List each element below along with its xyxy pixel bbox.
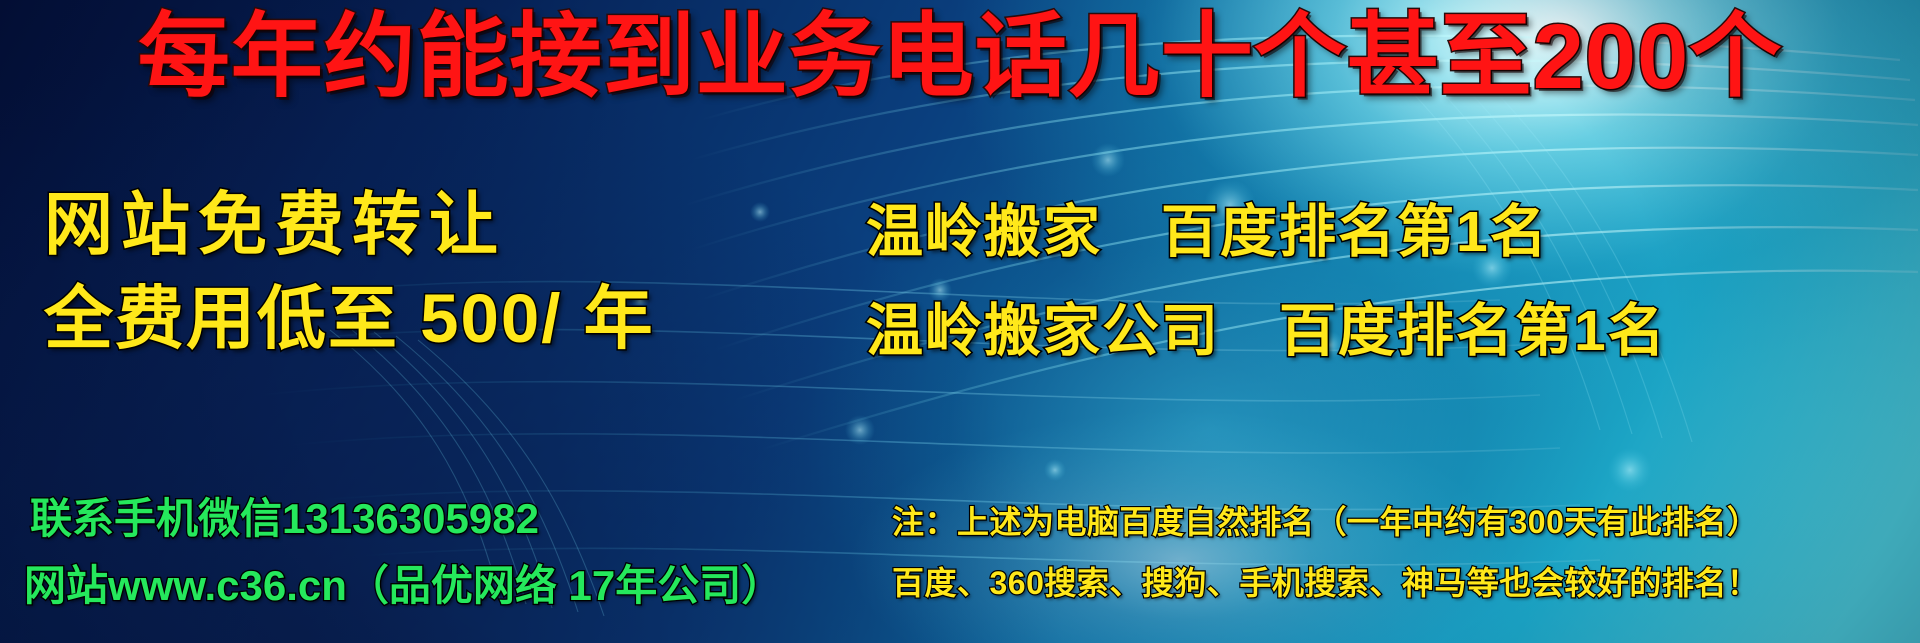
note-line-2: 百度、360搜索、搜狗、手机搜索、神马等也会较好的排名！ [892, 558, 1759, 604]
offer-line-1: 网站免费转让 [44, 168, 506, 268]
ranking-line-1: 温岭搬家 百度排名第1名 [866, 186, 1549, 268]
promo-banner: 每年约能接到业务电话几十个甚至200个 网站免费转让 全费用低至 500/ 年 … [0, 0, 1920, 643]
offer-line-2: 全费用低至 500/ 年 [44, 262, 655, 362]
headline-text: 每年约能接到业务电话几十个甚至200个 [0, 8, 1920, 107]
contact-phone-wechat: 联系手机微信13136305982 [30, 485, 539, 546]
contact-website: 网站www.c36.cn（品优网络 17年公司） [24, 552, 783, 613]
ranking-line-2: 温岭搬家公司 百度排名第1名 [866, 285, 1667, 367]
note-line-1: 注：上述为电脑百度自然排名（一年中约有300天有此排名） [892, 497, 1759, 543]
